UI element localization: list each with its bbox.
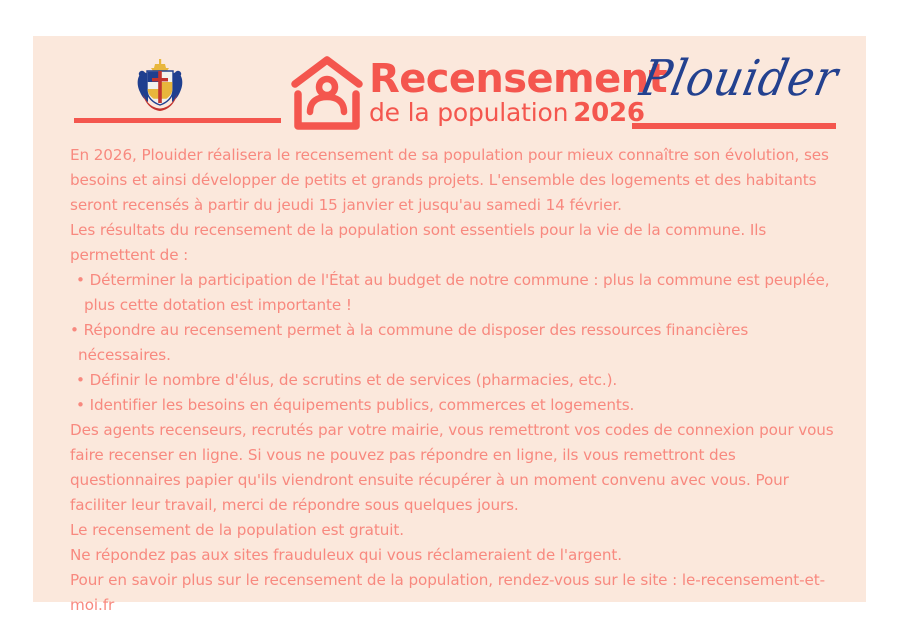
body-paragraph: Le recensement de la population est grat… [70,518,842,543]
commune-signature-text: Plouider [634,45,859,114]
body-bullet: • Répondre au recensement permet à la co… [70,318,842,368]
body-paragraph: En 2026, Plouider réalisera le recenseme… [70,143,842,218]
coat-of-arms-icon [135,58,185,112]
body-paragraph: Des agents recenseurs, recrutés par votr… [70,418,842,518]
census-logo-title: Recensement [369,58,667,100]
body-paragraph: Pour en savoir plus sur le recensement d… [70,568,842,618]
census-logo: Recensement de la population2026 [291,54,667,132]
poster-body: En 2026, Plouider réalisera le recenseme… [70,143,842,618]
body-paragraph: Les résultats du recensement de la popul… [70,218,842,268]
body-bullet: • Identifier les besoins en équipements … [70,393,842,418]
body-bullet: • Déterminer la participation de l'État … [70,268,842,318]
house-person-icon [291,56,363,132]
census-logo-subtitle: de la population [369,98,568,127]
poster-panel: Recensement de la population2026 Plouide… [33,36,866,602]
header-rule-left [74,118,281,123]
census-logo-subline: de la population2026 [369,98,667,131]
commune-signature: Plouider [634,52,844,118]
body-bullet: • Définir le nombre d'élus, de scrutins … [70,368,842,393]
body-paragraph: Ne répondez pas aux sites frauduleux qui… [70,543,842,568]
poster-header: Recensement de la population2026 Plouide… [33,36,866,136]
census-logo-words: Recensement de la population2026 [369,58,667,131]
